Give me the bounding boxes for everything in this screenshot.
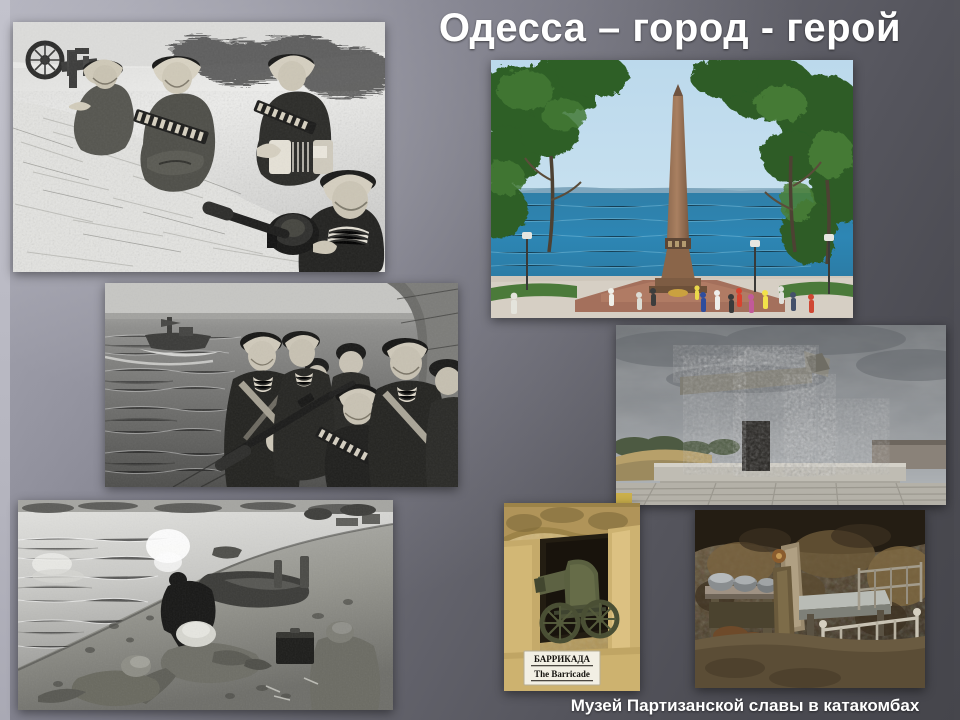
photo-sailors-in-trench-image [13, 22, 385, 272]
photo-unknown-sailor-obelisk-image [491, 60, 853, 318]
photo-barricade-cannon-image: БАРРИКАДА The Barricade [504, 503, 640, 691]
page-title: Одесса – город - герой [439, 8, 901, 48]
photo-sailors-in-trench [13, 22, 385, 272]
svg-text:БАРРИКАДА: БАРРИКАДА [534, 654, 591, 664]
right-edge-strip [954, 0, 960, 720]
photo-partisan-glory-monument-image [616, 325, 946, 505]
photo-partisan-glory-monument [616, 325, 946, 505]
slide-title-bar: Одесса – город - герой [390, 2, 950, 54]
slide-caption-bar: Музей Партизанской славы в катакомбах [540, 694, 950, 718]
photo-catacomb-interior-image [695, 510, 925, 688]
photo-soldiers-on-shore-image [18, 500, 393, 710]
photo-unknown-sailor-obelisk [491, 60, 853, 318]
photo-barricade-cannon: БАРРИКАДА The Barricade [504, 503, 640, 691]
photo-sailors-on-deck-image [105, 283, 458, 487]
left-edge-strip [0, 0, 10, 720]
photo-soldiers-on-shore [18, 500, 393, 710]
photo-sailors-on-deck [105, 283, 458, 487]
barricade-placard: БАРРИКАДА The Barricade [524, 651, 600, 685]
svg-text:The Barricade: The Barricade [534, 669, 590, 679]
slide-canvas: БАРРИКАДА The Barricade [0, 0, 960, 720]
photo-catacomb-interior [695, 510, 925, 688]
caption-text: Музей Партизанской славы в катакомбах [571, 696, 920, 716]
